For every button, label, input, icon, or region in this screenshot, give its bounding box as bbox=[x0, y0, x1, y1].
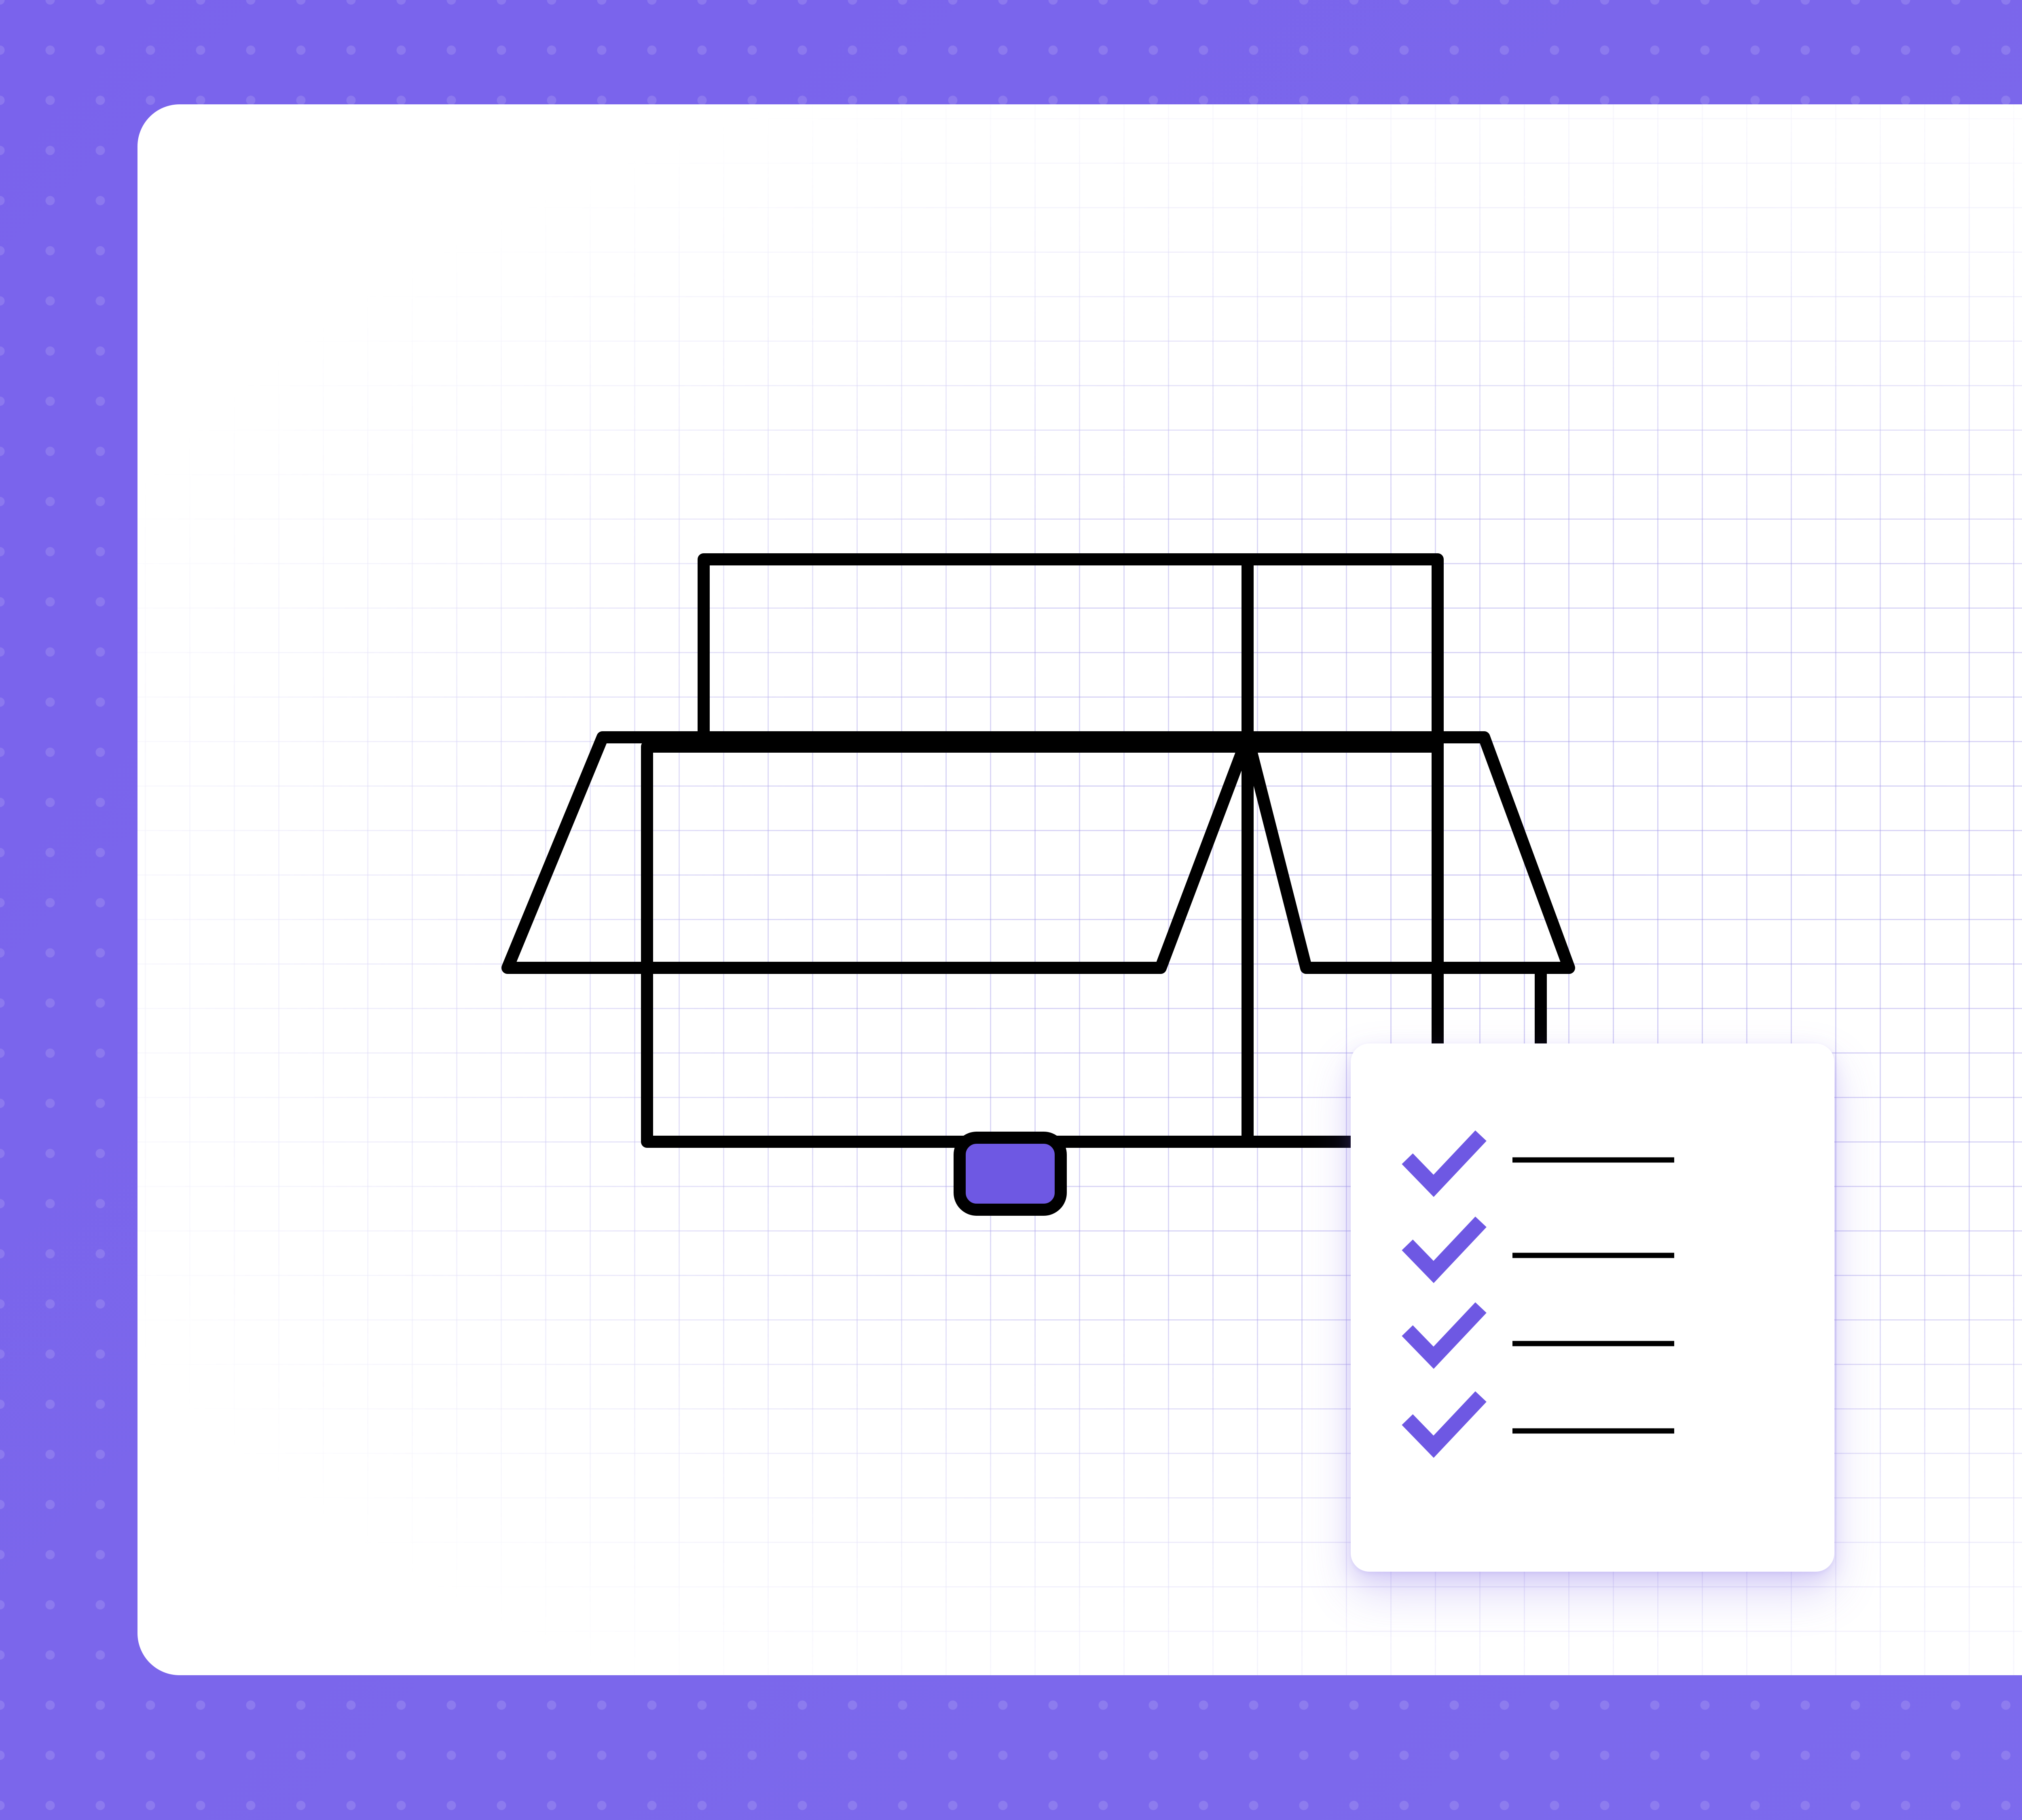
headline-line-1: 50+ AI Tools: bbox=[1512, 561, 2022, 683]
box-back-panel bbox=[704, 559, 1438, 747]
headline-block: 50+ AI Tools: Product Managers bbox=[1512, 561, 2022, 815]
list-item bbox=[1407, 1136, 1674, 1186]
white-content-card: 50+ AI Tools: Product Managers bbox=[137, 104, 2022, 1675]
headline-line-2: Product Managers bbox=[1512, 700, 2022, 815]
list-item bbox=[1407, 1397, 1674, 1447]
box-left-flap bbox=[508, 737, 1248, 968]
box-label-tab bbox=[960, 1138, 1061, 1210]
poster-canvas: 50+ AI Tools: Product Managers bbox=[0, 0, 2022, 1820]
check-icon bbox=[1407, 1308, 1481, 1358]
box-front-body bbox=[647, 747, 1438, 1142]
check-icon bbox=[1407, 1222, 1481, 1272]
check-icon bbox=[1407, 1397, 1481, 1447]
checklist-card[interactable] bbox=[1351, 1043, 1834, 1572]
list-item bbox=[1407, 1308, 1674, 1358]
check-icon bbox=[1407, 1136, 1481, 1186]
list-item bbox=[1407, 1222, 1674, 1272]
